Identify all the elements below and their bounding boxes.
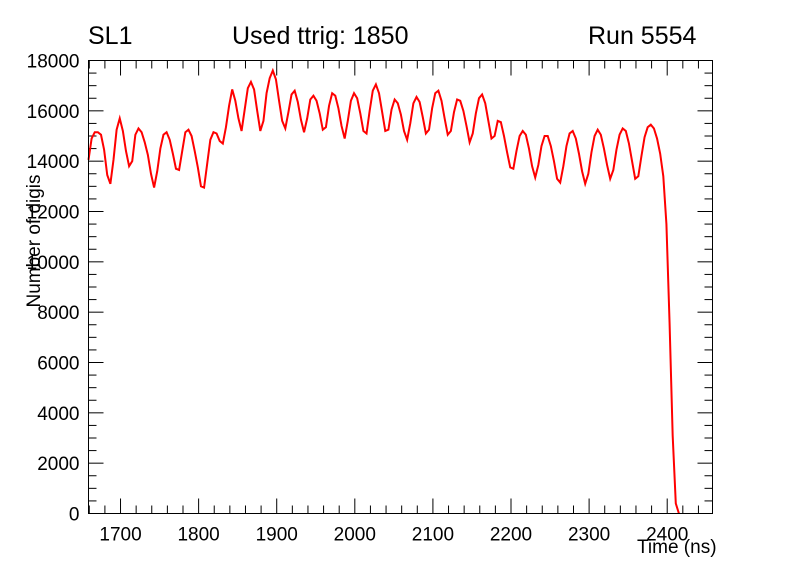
tick-label: 2300 xyxy=(568,525,610,546)
tick-label: 16000 xyxy=(27,102,80,123)
tick-label: 2100 xyxy=(412,525,454,546)
tick-label: 4000 xyxy=(37,404,79,425)
root-plot-canvas: SL1 Used ttrig: 1850 Run 5554 0200040006… xyxy=(0,0,796,572)
x-axis-title: Time (ns) xyxy=(637,537,717,559)
tick-label: 18000 xyxy=(27,52,80,73)
axis-ticks xyxy=(89,61,713,514)
tick-label: 1700 xyxy=(99,525,141,546)
plot-area: 0200040006000800010000120001400016000180… xyxy=(0,0,796,572)
plot-frame xyxy=(89,61,713,514)
tick-label: 1900 xyxy=(256,525,298,546)
tick-label: 6000 xyxy=(37,354,79,375)
axis-tick-labels: 0200040006000800010000120001400016000180… xyxy=(27,52,689,546)
digis-vs-time-curve xyxy=(89,71,679,514)
tick-label: 1800 xyxy=(177,525,219,546)
tick-label: 2000 xyxy=(37,454,79,475)
tick-label: 0 xyxy=(69,505,80,526)
y-axis-title: Number of digis xyxy=(24,151,46,331)
tick-label: 2200 xyxy=(490,525,532,546)
tick-label: 2000 xyxy=(334,525,376,546)
